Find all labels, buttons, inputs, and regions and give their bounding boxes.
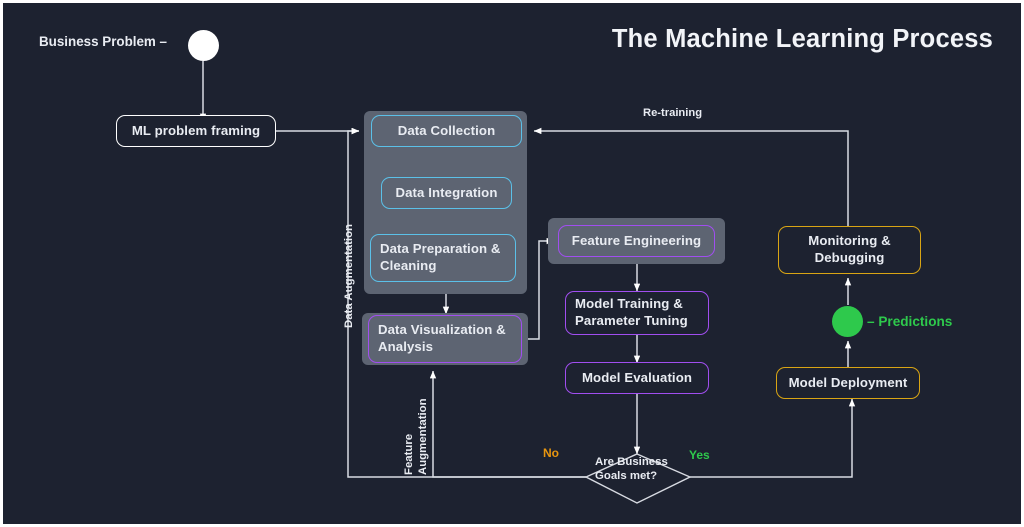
node-data-integration[interactable]: Data Integration [381, 177, 512, 209]
predictions-label: – Predictions [867, 314, 952, 329]
page-title: The Machine Learning Process [612, 25, 993, 54]
predictions-dot [832, 306, 863, 337]
node-data-collection[interactable]: Data Collection [371, 115, 522, 147]
decision-line-2: Goals met? [595, 469, 691, 483]
node-model-deployment[interactable]: Model Deployment [776, 367, 920, 399]
edge-label-retraining: Re-training [643, 107, 702, 119]
ml-process-diagram: The Machine Learning Process Business Pr… [0, 0, 1024, 527]
node-data-visualization-analysis[interactable]: Data Visualization & Analysis [368, 315, 522, 363]
decision-diamond-label: Are Business Goals met? [595, 455, 691, 484]
edge-label-yes: Yes [689, 448, 710, 462]
node-model-evaluation[interactable]: Model Evaluation [565, 362, 709, 394]
node-model-training-parameter-tuning[interactable]: Model Training & Parameter Tuning [565, 291, 709, 335]
edge-label-data-augmentation: Data Augmentation [343, 224, 355, 328]
business-problem-label: Business Problem – [39, 34, 167, 49]
edge-label-no: No [543, 446, 559, 460]
edge-label-feature-augmentation-line1: Feature [403, 434, 415, 475]
node-monitoring-debugging[interactable]: Monitoring & Debugging [778, 226, 921, 274]
decision-line-1: Are Business [595, 455, 691, 469]
node-ml-problem-framing[interactable]: ML problem framing [116, 115, 276, 147]
start-node-dot [188, 30, 219, 61]
node-feature-engineering[interactable]: Feature Engineering [558, 225, 715, 257]
edge-label-feature-augmentation-line2: Augmentation [417, 398, 429, 475]
node-data-preparation-cleaning[interactable]: Data Preparation & Cleaning [370, 234, 516, 282]
